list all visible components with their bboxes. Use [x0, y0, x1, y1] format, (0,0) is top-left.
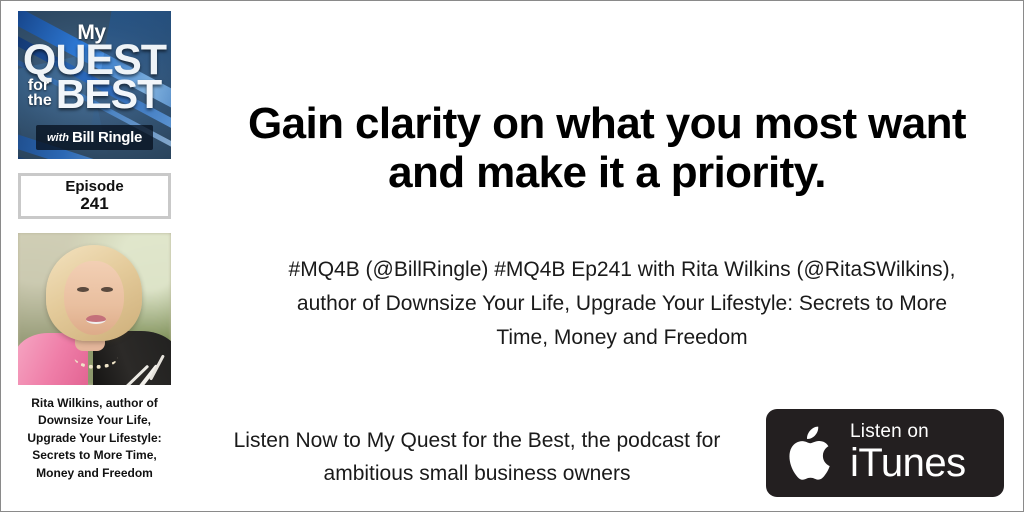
guest-photo — [18, 233, 171, 385]
photo-eye — [101, 287, 113, 292]
page-title: Gain clarity on what you most want and m… — [211, 99, 1003, 198]
listen-on-itunes-button[interactable]: Listen on iTunes — [766, 409, 1004, 497]
sidebar: My QUEST for the BEST with Bill Ringle E… — [18, 11, 171, 503]
logo-line-middle: for the BEST — [28, 76, 161, 112]
episode-number: 241 — [80, 195, 108, 213]
itunes-wordmark: iTunes — [850, 443, 966, 484]
logo-host-bar: with Bill Ringle — [36, 125, 153, 150]
photo-smile — [86, 315, 106, 324]
main-content: Gain clarity on what you most want and m… — [191, 1, 1023, 511]
itunes-listen-on-label: Listen on — [850, 422, 966, 442]
apple-logo-icon — [788, 426, 834, 482]
logo-line-the: the — [28, 93, 52, 108]
photo-necklace — [74, 345, 118, 369]
logo-host-name: Bill Ringle — [72, 129, 142, 146]
logo-for-the-stack: for the — [28, 78, 52, 108]
listen-cta-text: Listen Now to My Quest for the Best, the… — [197, 425, 757, 490]
logo-line-best: BEST — [56, 76, 161, 112]
podcast-episode-card: My QUEST for the BEST with Bill Ringle E… — [0, 0, 1024, 512]
photo-eye — [77, 287, 89, 292]
episode-badge: Episode 241 — [18, 173, 171, 219]
episode-description: #MQ4B (@BillRingle) #MQ4B Ep241 with Rit… — [281, 253, 963, 355]
guest-caption: Rita Wilkins, author of Downsize Your Li… — [18, 395, 171, 482]
logo-host-prefix: with — [47, 132, 69, 144]
itunes-badge-labels: Listen on iTunes — [850, 422, 966, 484]
episode-label: Episode — [65, 179, 123, 195]
show-logo: My QUEST for the BEST with Bill Ringle — [18, 11, 171, 159]
